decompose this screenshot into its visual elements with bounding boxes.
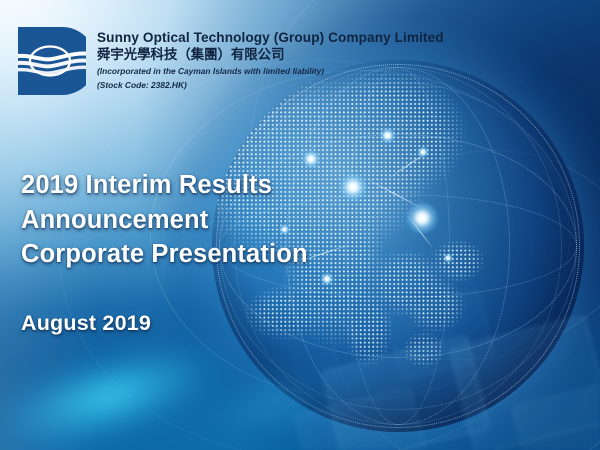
company-identity: Sunny Optical Technology (Group) Company… [97,27,444,92]
company-header: Sunny Optical Technology (Group) Company… [18,27,444,95]
presentation-title-slide: Sunny Optical Technology (Group) Company… [0,0,600,450]
incorporation-note: (Incorporated in the Cayman Islands with… [97,66,444,78]
title-line-2: Announcement [21,203,308,238]
company-name-chinese: 舜宇光學科技（集團）有限公司 [97,47,444,64]
stock-code: (Stock Code: 2382.HK) [97,80,444,92]
sunny-optical-logo-icon [18,27,86,95]
presentation-date: August 2019 [21,311,151,336]
company-name-english: Sunny Optical Technology (Group) Company… [97,30,444,46]
title-line-3: Corporate Presentation [21,237,308,272]
title-line-1: 2019 Interim Results [21,168,308,203]
slide-title-block: 2019 Interim Results Announcement Corpor… [21,168,308,272]
